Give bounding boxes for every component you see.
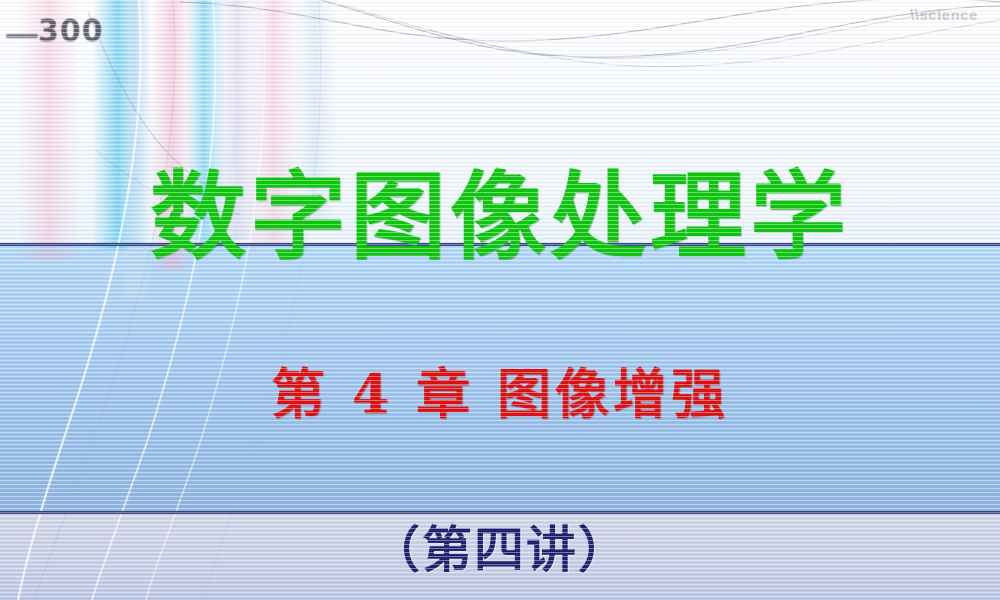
ruler-scale-label: 300: [38, 14, 104, 49]
slide-canvas: 300 \\science 数字图像处理学 第 4 章 图像增强 （第四讲）: [0, 0, 1000, 600]
ruler-tick-icon: [6, 34, 38, 38]
science-watermark: \\science: [910, 7, 978, 24]
slide-lecture-number: （第四讲）: [0, 519, 1000, 581]
slide-chapter-subtitle: 第 4 章 图像增强: [0, 362, 1000, 426]
divider-rule-bottom: [0, 511, 1000, 514]
slide-main-title: 数字图像处理学: [0, 162, 1000, 272]
